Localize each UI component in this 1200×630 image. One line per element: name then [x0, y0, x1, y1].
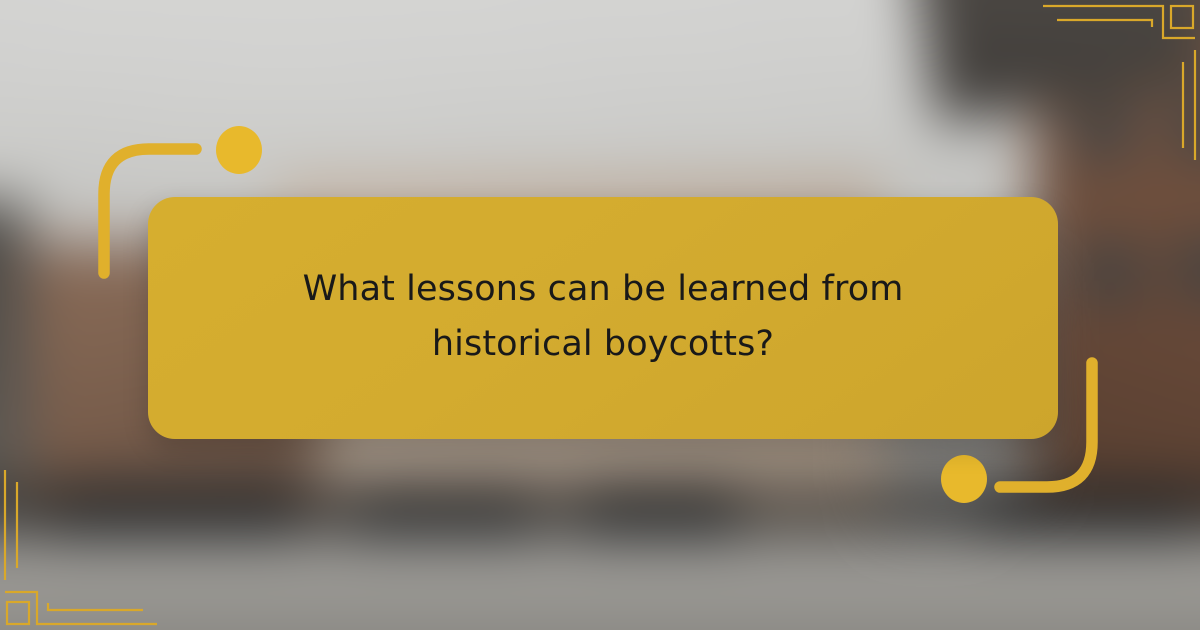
decorative-dot-bottom-right: [941, 455, 987, 503]
corner-bracket-ornament-bottom-left: [0, 465, 165, 630]
quote-card: What lessons can be learned from histori…: [148, 197, 1058, 439]
corner-bracket-ornament-top-right: [1035, 0, 1200, 165]
quote-card-title: What lessons can be learned from histori…: [223, 262, 983, 375]
quote-card-canvas: What lessons can be learned from histori…: [0, 0, 1200, 630]
decorative-dot-top-left: [216, 126, 262, 174]
